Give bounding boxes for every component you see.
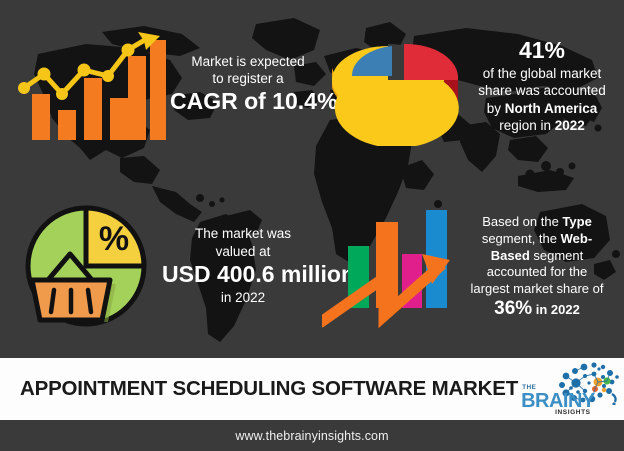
market-value-line-2: valued at [162, 243, 324, 260]
regional-share-line-4: region in 2022 [466, 117, 618, 134]
segment-share-line-6: 36% in 2022 [458, 297, 616, 321]
growth-bar-line-chart [14, 26, 166, 144]
market-value-year: in 2022 [162, 289, 324, 306]
regional-share-year: 2022 [555, 118, 585, 133]
footer-url[interactable]: www.thebrainyinsights.com [235, 429, 388, 443]
segment-share-line-4: accounted for the [458, 264, 616, 281]
segment-share-line-5: largest market share of [458, 281, 616, 298]
segment-share-line-1-prefix: Based on the [482, 214, 562, 229]
basket-slat [88, 290, 91, 312]
stat-block-cagr: Market is expected to register a CAGR of… [14, 22, 326, 147]
stat-block-segment-share: Based on the Type segment, the Web- Base… [322, 200, 620, 336]
cagr-value: CAGR of 10.4% [170, 87, 326, 116]
segment-type-label: Type [562, 214, 591, 229]
regional-share-line-1: of the global market [466, 65, 618, 82]
segment-share-line-2: segment, the Web- [458, 231, 616, 248]
pie-slice-red [404, 44, 458, 80]
regional-share-pie [326, 24, 462, 146]
segment-share-line-3-suffix: segment [530, 248, 583, 263]
trend-marker [18, 82, 30, 94]
percent-symbol: % [99, 220, 129, 258]
market-value-pie: % [14, 200, 156, 332]
type-segment-bar-chart [322, 204, 456, 332]
segment-web-label: Web- [561, 231, 593, 246]
market-value-amount: USD 400.6 million [162, 260, 324, 289]
trend-marker [122, 43, 135, 56]
chart-bar [110, 98, 128, 140]
cagr-line-1: Market is expected [170, 53, 326, 70]
regional-share-line-4-prefix: region in [499, 118, 555, 133]
stat-block-regional-share: 41% of the global market share was accou… [326, 20, 618, 150]
segment-share-year: in 2022 [532, 302, 580, 317]
infographic-canvas: Market is expected to register a CAGR of… [0, 0, 624, 451]
regional-share-line-3: by North America [466, 100, 618, 117]
stat-block-market-value: % The market was valued at USD 400.6 mil… [14, 198, 326, 334]
title-band: APPOINTMENT SCHEDULING SOFTWARE MARKET [0, 358, 624, 420]
cagr-text-block: Market is expected to register a CAGR of… [170, 53, 326, 117]
brainy-insights-logo[interactable]: THE BRAINY INSIGHTS [518, 361, 622, 417]
segment-share-line-2-prefix: segment, the [482, 231, 561, 246]
page-title: APPOINTMENT SCHEDULING SOFTWARE MARKET [20, 377, 518, 401]
logo-insights-text: INSIGHTS [555, 409, 591, 416]
trend-marker [102, 70, 114, 82]
segment-share-line-3: Based segment [458, 248, 616, 265]
chart-bar [84, 78, 102, 140]
trend-marker [56, 88, 68, 100]
regional-share-line-3-prefix: by [487, 101, 505, 116]
footer-band: www.thebrainyinsights.com [0, 420, 624, 451]
segment-share-text-block: Based on the Type segment, the Web- Base… [458, 214, 616, 321]
chart-bar [150, 40, 166, 140]
basket-slat [51, 290, 54, 312]
cagr-line-2: to register a [170, 70, 326, 87]
regional-share-line-2: share was accounted [466, 82, 618, 99]
segment-share-line-1: Based on the Type [458, 214, 616, 231]
market-value-line-1: The market was [162, 225, 324, 242]
trend-marker [38, 67, 51, 80]
chart-bar [32, 94, 50, 140]
chart-bar [58, 110, 76, 140]
segment-based-label: Based [491, 248, 530, 263]
regional-share-text-block: 41% of the global market share was accou… [466, 36, 618, 135]
segment-share-value: 36% [494, 298, 532, 319]
chart-bar [128, 56, 146, 140]
market-value-text-block: The market was valued at USD 400.6 milli… [162, 225, 324, 306]
regional-share-value: 41% [466, 36, 618, 65]
trend-marker [78, 63, 91, 76]
regional-share-region: North America [505, 101, 598, 116]
